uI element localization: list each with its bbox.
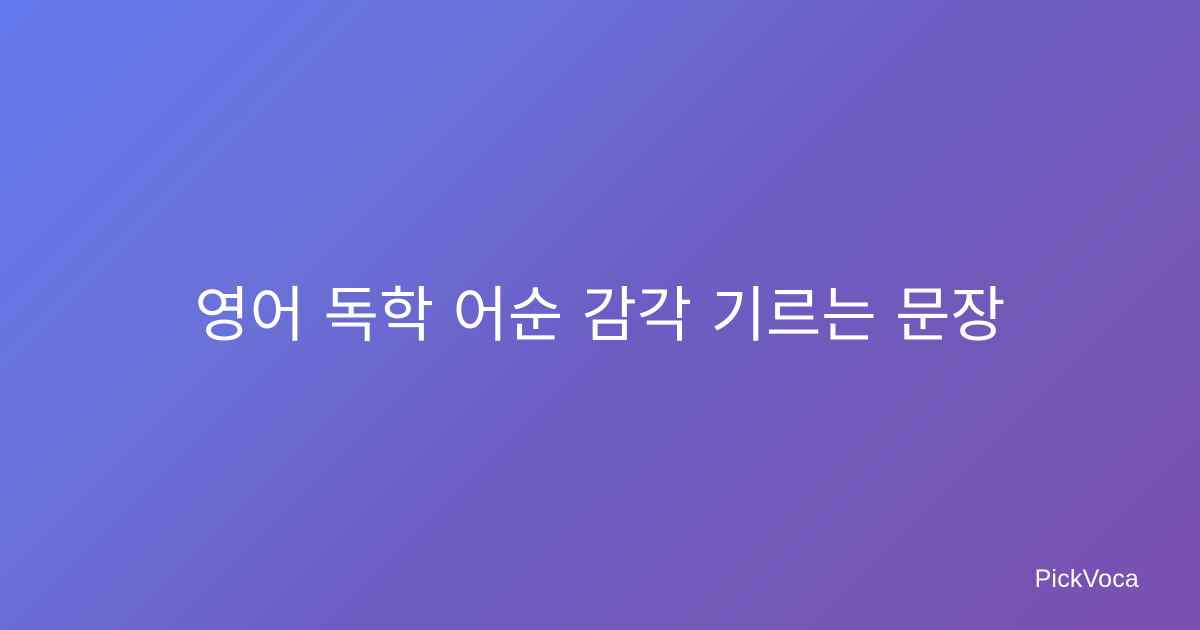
og-card: 영어 독학 어순 감각 기르는 문장 PickVoca bbox=[0, 0, 1200, 630]
page-title: 영어 독학 어순 감각 기르는 문장 bbox=[0, 278, 1200, 353]
brand-wordmark: PickVoca bbox=[1035, 567, 1139, 592]
